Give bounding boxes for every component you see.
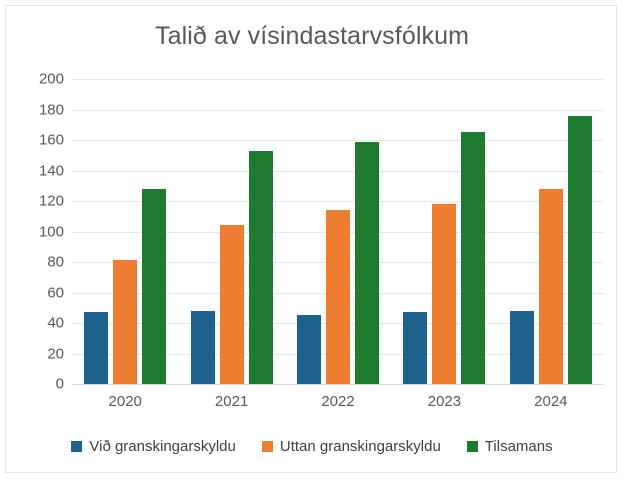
bar[interactable] xyxy=(432,204,456,384)
y-axis-tick-label: 80 xyxy=(47,254,64,271)
x-axis-tick-label: 2022 xyxy=(285,393,391,410)
legend-swatch-icon xyxy=(467,441,478,452)
bar[interactable] xyxy=(355,142,379,384)
bar[interactable] xyxy=(326,210,350,384)
chart-legend: Við granskingarskylduUttan granskingarsk… xyxy=(6,438,618,455)
y-axis-tick-label: 120 xyxy=(39,193,64,210)
bar-group: 2020 xyxy=(72,79,178,384)
y-axis-tick-label: 40 xyxy=(47,315,64,332)
bar-group: 2022 xyxy=(285,79,391,384)
x-axis-tick-label: 2023 xyxy=(391,393,497,410)
x-axis-tick-label: 2020 xyxy=(72,393,178,410)
legend-item[interactable]: Tilsamans xyxy=(467,438,553,455)
y-axis-tick-label: 200 xyxy=(39,71,64,88)
bar-group: 2021 xyxy=(178,79,284,384)
chart-title: Talið av vísindastarvsfólkum xyxy=(6,22,618,51)
y-axis-tick-label: 100 xyxy=(39,223,64,240)
bar[interactable] xyxy=(568,116,592,384)
bar[interactable] xyxy=(249,151,273,384)
legend-item[interactable]: Við granskingarskyldu xyxy=(71,438,235,455)
y-axis-tick-label: 60 xyxy=(47,284,64,301)
bar[interactable] xyxy=(539,189,563,384)
bar-group: 2024 xyxy=(498,79,604,384)
bar[interactable] xyxy=(403,312,427,384)
y-axis-tick-label: 0 xyxy=(56,376,64,393)
bar[interactable] xyxy=(510,311,534,384)
bar[interactable] xyxy=(142,189,166,384)
plot-area: 200180160140120100806040200 202020212022… xyxy=(72,79,604,384)
bar[interactable] xyxy=(191,311,215,384)
legend-swatch-icon xyxy=(71,441,82,452)
bar[interactable] xyxy=(297,315,321,384)
legend-item-label: Við granskingarskyldu xyxy=(89,438,235,455)
y-axis-tick-label: 180 xyxy=(39,101,64,118)
bar[interactable] xyxy=(220,225,244,384)
gridline xyxy=(72,384,604,385)
bar-groups: 20202021202220232024 xyxy=(72,79,604,384)
bar-group: 2023 xyxy=(391,79,497,384)
y-axis-tick-label: 160 xyxy=(39,132,64,149)
legend-swatch-icon xyxy=(262,441,273,452)
bar[interactable] xyxy=(84,312,108,384)
y-axis-tick-label: 140 xyxy=(39,162,64,179)
legend-item-label: Uttan granskingarskyldu xyxy=(280,438,441,455)
chart-card: Talið av vísindastarvsfólkum 20018016014… xyxy=(5,5,617,473)
bar[interactable] xyxy=(113,260,137,384)
legend-item[interactable]: Uttan granskingarskyldu xyxy=(262,438,441,455)
x-axis-tick-label: 2021 xyxy=(178,393,284,410)
bar[interactable] xyxy=(461,132,485,384)
legend-item-label: Tilsamans xyxy=(485,438,553,455)
x-axis-tick-label: 2024 xyxy=(498,393,604,410)
y-axis-tick-label: 20 xyxy=(47,345,64,362)
